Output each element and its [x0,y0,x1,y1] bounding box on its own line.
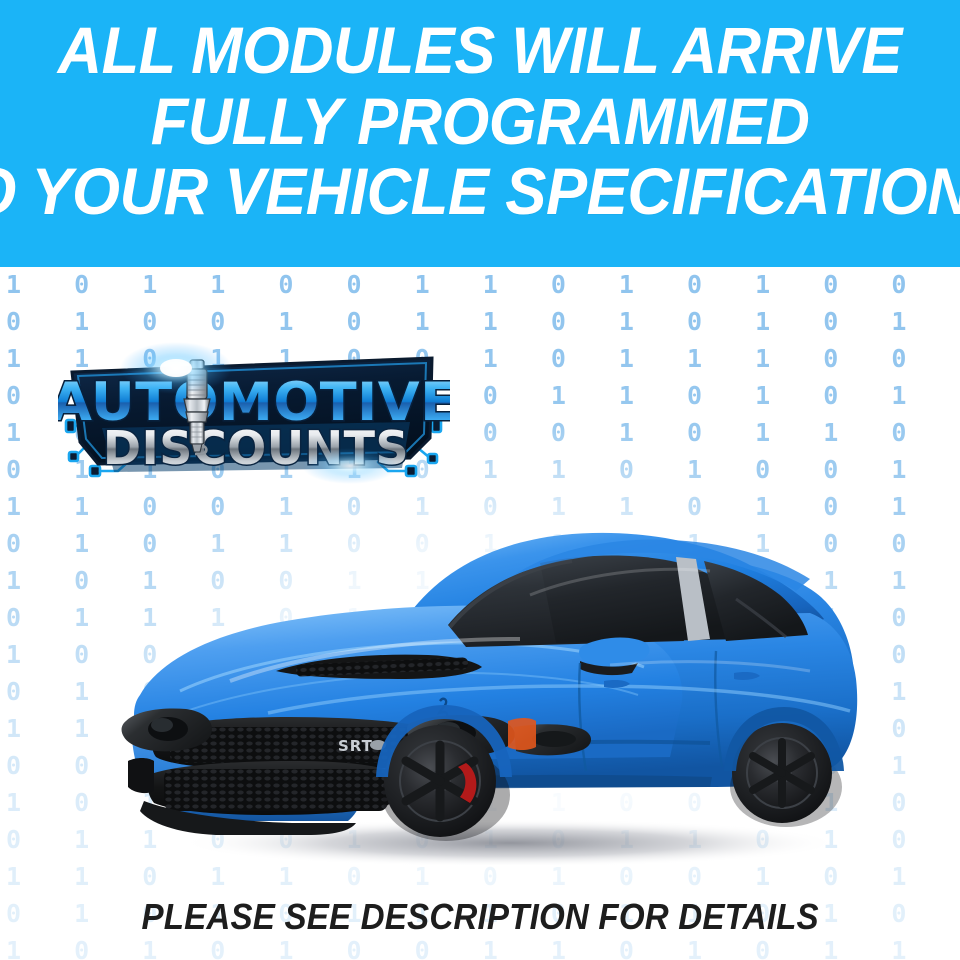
footer-text: PLEASE SEE DESCRIPTION FOR DETAILS [141,896,818,938]
promo-poster: 1 0 1 1 0 0 1 1 0 1 0 1 0 0 1 1 0 1 0 1 … [0,0,960,960]
binary-row: 0 1 0 0 1 0 1 1 0 1 0 1 0 1 1 0 1 0 1 1 … [6,303,960,340]
headline-line-3: TO YOUR VEHICLE SPECIFICATIONS. [0,159,960,224]
side-marker [508,718,536,750]
automotive-discounts-logo: AUTOMOTIVE DISCOUNTS [58,342,450,484]
svg-text:SRT: SRT [338,737,373,755]
vehicle-image: SRT [110,495,870,865]
headline-line-2: FULLY PROGRAMMED [151,89,810,154]
header-banner: ALL MODULES WILL ARRIVE FULLY PROGRAMMED… [0,0,960,267]
binary-row: 1 0 1 1 0 0 1 1 0 1 0 1 0 0 1 1 0 1 0 1 … [6,266,960,303]
headline-line-1: ALL MODULES WILL ARRIVE [58,18,902,83]
footer-note: PLEASE SEE DESCRIPTION FOR DETAILS [0,888,960,946]
logo-bottom-glow [302,448,398,484]
front-intake-left [128,758,154,793]
